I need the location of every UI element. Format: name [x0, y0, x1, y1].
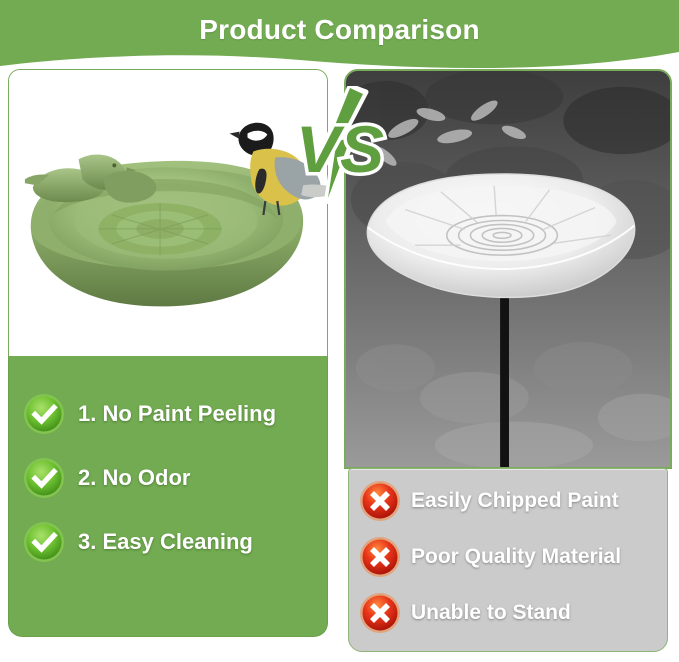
product-comparison-infographic: Product Comparison	[0, 0, 679, 662]
list-item: Unable to Stand	[359, 592, 667, 634]
green-ceramic-birdbath-illustration	[9, 70, 327, 356]
x-circle-icon	[359, 480, 401, 522]
check-circle-icon	[23, 521, 65, 563]
x-circle-icon	[359, 592, 401, 634]
page-title: Product Comparison	[0, 14, 679, 46]
list-item-label: 2. No Odor	[78, 465, 190, 491]
list-item: 3. Easy Cleaning	[23, 521, 323, 563]
list-item-label: 1. No Paint Peeling	[78, 401, 276, 427]
check-circle-icon	[23, 393, 65, 435]
right-product-column: Easily Chipped Paint Poor Quality Materi…	[344, 69, 672, 652]
left-benefits-panel: 1. No Paint Peeling 2. No Odor	[8, 356, 328, 637]
left-product-photo	[8, 69, 328, 357]
check-circle-icon	[23, 457, 65, 499]
left-product-column: 1. No Paint Peeling 2. No Odor	[8, 69, 328, 637]
list-item-label: 3. Easy Cleaning	[78, 529, 253, 555]
list-item: Poor Quality Material	[359, 536, 667, 578]
header-banner: Product Comparison	[0, 0, 679, 76]
x-circle-icon	[359, 536, 401, 578]
list-item-label: Unable to Stand	[411, 601, 571, 625]
list-item-label: Easily Chipped Paint	[411, 489, 619, 513]
list-item: 1. No Paint Peeling	[23, 393, 323, 435]
list-item: 2. No Odor	[23, 457, 323, 499]
right-product-photo	[344, 69, 672, 469]
list-item-label: Poor Quality Material	[411, 545, 621, 569]
glass-birdbath-garden-illustration	[346, 71, 670, 467]
list-item: Easily Chipped Paint	[359, 480, 667, 522]
right-drawbacks-panel: Easily Chipped Paint Poor Quality Materi…	[348, 468, 668, 652]
